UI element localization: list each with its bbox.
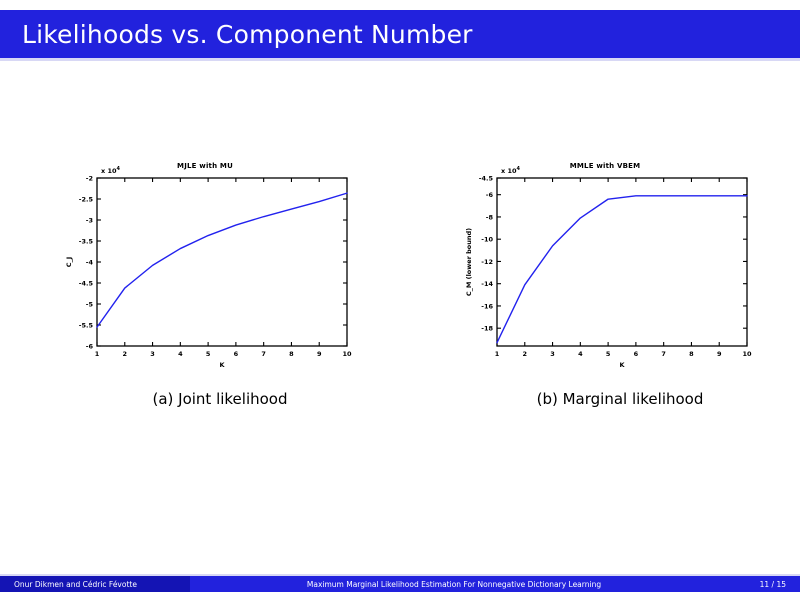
figure-caption-a: (a) Joint likelihood: [55, 390, 385, 408]
footer-paper-title: Maximum Marginal Likelihood Estimation F…: [190, 576, 718, 592]
y-axis-title: C_J: [65, 257, 73, 267]
y-axis-exponent-a: x 104: [101, 166, 120, 175]
x-tick-label: 1: [495, 350, 500, 358]
x-tick-label: 10: [742, 350, 752, 358]
y-tick-label: -4.5: [479, 174, 494, 182]
y-tick-label: -16: [481, 302, 493, 310]
title-divider: [0, 58, 800, 61]
y-tick-label: -14: [481, 280, 493, 288]
x-tick-label: 8: [689, 350, 694, 358]
y-tick-label: -2.5: [79, 195, 94, 203]
figure-joint-likelihood: MJLE with MU x 104 -2-2.5-3-3.5-4-4.5-5-…: [55, 150, 385, 420]
y-tick-label: -5: [86, 300, 94, 308]
y-tick-label: -18: [481, 325, 493, 333]
x-tick-label: 2: [123, 350, 128, 358]
footer-page-number: 11 / 15: [718, 576, 800, 592]
x-tick-label: 10: [342, 350, 352, 358]
chart-canvas-b: -4.5-6-8-10-12-14-16-1812345678910KC_M (…: [455, 150, 755, 380]
chart-title-a: MJLE with MU: [55, 162, 355, 170]
x-tick-label: 2: [523, 350, 528, 358]
x-tick-label: 4: [578, 350, 583, 358]
y-tick-label: -10: [481, 236, 493, 244]
y-axis-title: C_M (lower bound): [465, 228, 473, 296]
footer-bar: Onur Dikmen and Cédric Févotte Maximum M…: [0, 576, 800, 592]
chart-mjle-with-mu: MJLE with MU x 104 -2-2.5-3-3.5-4-4.5-5-…: [55, 150, 355, 380]
x-tick-label: 6: [634, 350, 639, 358]
y-tick-label: -6: [486, 191, 494, 199]
y-tick-label: -8: [486, 213, 494, 221]
y-tick-label: -4.5: [79, 279, 94, 287]
y-tick-label: -2: [86, 174, 93, 182]
chart-mmle-with-vbem: MMLE with VBEM x 104 -4.5-6-8-10-12-14-1…: [455, 150, 755, 380]
x-tick-label: 7: [661, 350, 666, 358]
x-tick-label: 9: [317, 350, 322, 358]
footer-authors: Onur Dikmen and Cédric Févotte: [0, 576, 190, 592]
y-tick-label: -5.5: [79, 321, 94, 329]
page-title: Likelihoods vs. Component Number: [0, 20, 473, 49]
x-tick-label: 5: [206, 350, 211, 358]
y-tick-label: -12: [481, 258, 493, 266]
y-tick-label: -3: [86, 216, 93, 224]
x-tick-label: 6: [234, 350, 239, 358]
x-tick-label: 3: [550, 350, 555, 358]
x-tick-label: 1: [95, 350, 100, 358]
chart-canvas-a: -2-2.5-3-3.5-4-4.5-5-5.5-612345678910KC_…: [55, 150, 355, 380]
figure-caption-b: (b) Marginal likelihood: [455, 390, 785, 408]
x-tick-label: 7: [261, 350, 266, 358]
y-tick-label: -6: [86, 342, 94, 350]
x-axis-title: K: [619, 361, 625, 369]
y-tick-label: -3.5: [79, 237, 94, 245]
x-tick-label: 8: [289, 350, 294, 358]
y-axis-exponent-b: x 104: [501, 166, 520, 175]
x-axis-title: K: [219, 361, 225, 369]
slide-title-bar: Likelihoods vs. Component Number: [0, 10, 800, 58]
chart-title-b: MMLE with VBEM: [455, 162, 755, 170]
figure-marginal-likelihood: MMLE with VBEM x 104 -4.5-6-8-10-12-14-1…: [455, 150, 785, 420]
x-tick-label: 5: [606, 350, 611, 358]
x-tick-label: 9: [717, 350, 722, 358]
x-tick-label: 3: [150, 350, 155, 358]
x-tick-label: 4: [178, 350, 183, 358]
y-tick-label: -4: [86, 258, 94, 266]
figure-row: MJLE with MU x 104 -2-2.5-3-3.5-4-4.5-5-…: [0, 150, 800, 420]
